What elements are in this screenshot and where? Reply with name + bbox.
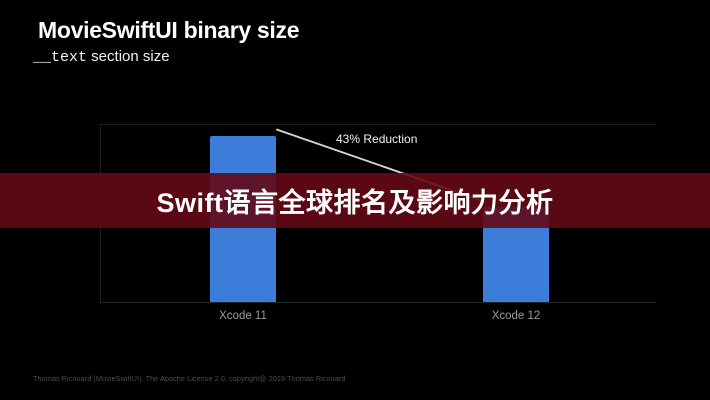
x-axis-line (100, 302, 656, 303)
gridline-top (100, 124, 656, 125)
chart-subtitle-sans: section size (87, 48, 170, 65)
chart-subtitle-mono: __text (33, 49, 87, 66)
attribution-credit: Thomas Ricouard (MovieSwiftUI), The Apac… (33, 374, 345, 383)
overlay-banner-text: Swift语言全球排名及影响力分析 (157, 181, 554, 220)
x-tick-label-xcode-11: Xcode 11 (203, 310, 283, 322)
reduction-annotation-label: 43% Reduction (336, 132, 417, 146)
chart-screenshot: MovieSwiftUI binary size __text section … (0, 0, 710, 400)
overlay-banner: Swift语言全球排名及影响力分析 (0, 173, 710, 228)
x-tick-label-xcode-12: Xcode 12 (476, 310, 556, 322)
page-title: MovieSwiftUI binary size (38, 17, 299, 44)
chart-subtitle: __text section size (33, 48, 170, 67)
